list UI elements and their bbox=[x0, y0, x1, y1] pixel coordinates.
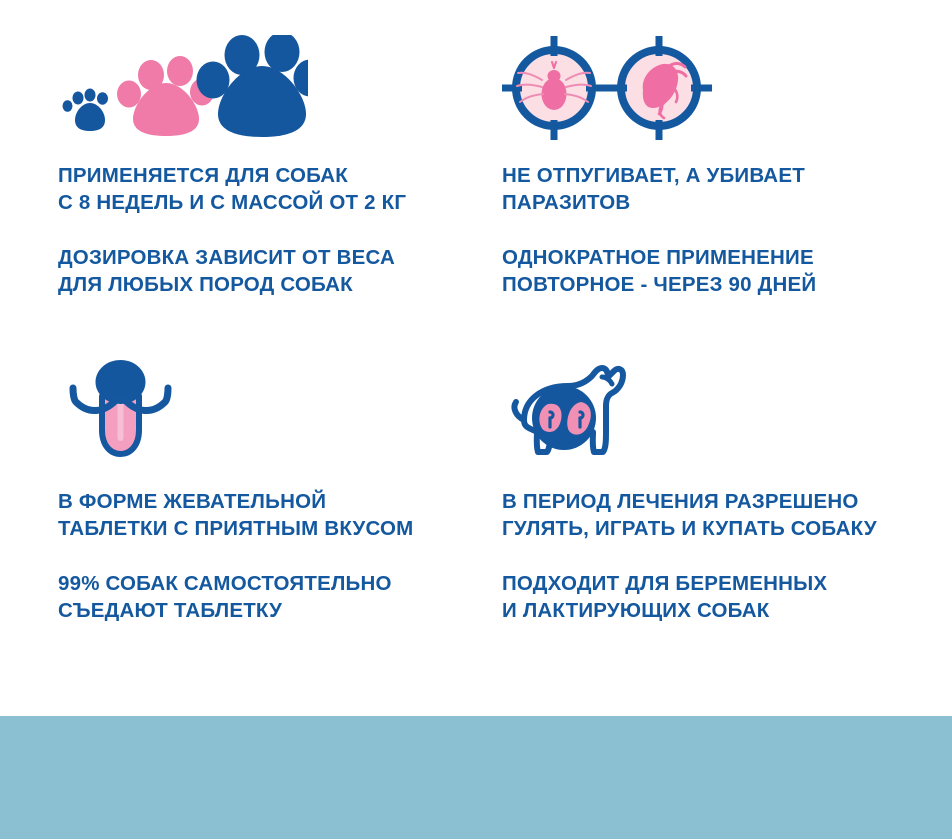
parasite-target-icon bbox=[502, 32, 712, 140]
feature-text-block: В ФОРМЕ ЖЕВАТЕЛЬНОЙ ТАБЛЕТКИ С ПРИЯТНЫМ … bbox=[58, 488, 476, 542]
icon-area bbox=[502, 28, 952, 140]
text-line: ГУЛЯТЬ, ИГРАТЬ И КУПАТЬ СОБАКУ bbox=[502, 515, 952, 542]
feature-grid: ПРИМЕНЯЕТСЯ ДЛЯ СОБАК С 8 НЕДЕЛЬ И С МАС… bbox=[0, 0, 952, 716]
paw-prints-icon bbox=[58, 35, 308, 140]
text-line: СЪЕДАЮТ ТАБЛЕТКУ bbox=[58, 597, 476, 624]
feature-text-block: ОДНОКРАТНОЕ ПРИМЕНЕНИЕ ПОВТОРНОЕ - ЧЕРЕЗ… bbox=[502, 244, 952, 298]
text-column: В ФОРМЕ ЖЕВАТЕЛЬНОЙ ТАБЛЕТКИ С ПРИЯТНЫМ … bbox=[58, 488, 476, 624]
text-line: В ФОРМЕ ЖЕВАТЕЛЬНОЙ bbox=[58, 488, 476, 515]
text-column: ПРИМЕНЯЕТСЯ ДЛЯ СОБАК С 8 НЕДЕЛЬ И С МАС… bbox=[58, 162, 476, 298]
pregnant-dog-icon bbox=[502, 358, 634, 462]
text-line: ОДНОКРАТНОЕ ПРИМЕНЕНИЕ bbox=[502, 244, 952, 271]
text-column: НЕ ОТПУГИВАЕТ, А УБИВАЕТ ПАРАЗИТОВ ОДНОК… bbox=[502, 162, 952, 298]
text-line: ДОЗИРОВКА ЗАВИСИТ ОТ ВЕСА bbox=[58, 244, 476, 271]
feature-text-block: ДОЗИРОВКА ЗАВИСИТ ОТ ВЕСА ДЛЯ ЛЮБЫХ ПОРО… bbox=[58, 244, 476, 298]
feature-pregnant-lactating: В ПЕРИОД ЛЕЧЕНИЯ РАЗРЕШЕНО ГУЛЯТЬ, ИГРАТ… bbox=[476, 330, 952, 630]
text-line: ПОВТОРНОЕ - ЧЕРЕЗ 90 ДНЕЙ bbox=[502, 271, 952, 298]
text-line: ДЛЯ ЛЮБЫХ ПОРОД СОБАК bbox=[58, 271, 476, 298]
feature-kills-parasites: НЕ ОТПУГИВАЕТ, А УБИВАЕТ ПАРАЗИТОВ ОДНОК… bbox=[476, 0, 952, 330]
feature-text-block: 99% СОБАК САМОСТОЯТЕЛЬНО СЪЕДАЮТ ТАБЛЕТК… bbox=[58, 570, 476, 624]
feature-dosage-by-weight: ПРИМЕНЯЕТСЯ ДЛЯ СОБАК С 8 НЕДЕЛЬ И С МАС… bbox=[0, 0, 476, 330]
feature-chewable-tablet: В ФОРМЕ ЖЕВАТЕЛЬНОЙ ТАБЛЕТКИ С ПРИЯТНЫМ … bbox=[0, 330, 476, 630]
text-line: С 8 НЕДЕЛЬ И С МАССОЙ ОТ 2 КГ bbox=[58, 189, 476, 216]
text-line: 99% СОБАК САМОСТОЯТЕЛЬНО bbox=[58, 570, 476, 597]
text-line: ПРИМЕНЯЕТСЯ ДЛЯ СОБАК bbox=[58, 162, 476, 189]
text-line: И ЛАКТИРУЮЩИХ СОБАК bbox=[502, 597, 952, 624]
text-column: В ПЕРИОД ЛЕЧЕНИЯ РАЗРЕШЕНО ГУЛЯТЬ, ИГРАТ… bbox=[502, 488, 952, 624]
infographic-page: ПРИМЕНЯЕТСЯ ДЛЯ СОБАК С 8 НЕДЕЛЬ И С МАС… bbox=[0, 0, 952, 839]
feature-text-block: ПРИМЕНЯЕТСЯ ДЛЯ СОБАК С 8 НЕДЕЛЬ И С МАС… bbox=[58, 162, 476, 216]
icon-area bbox=[58, 28, 476, 140]
bottom-color-band bbox=[0, 716, 952, 839]
text-line: НЕ ОТПУГИВАЕТ, А УБИВАЕТ bbox=[502, 162, 952, 189]
icon-area bbox=[58, 358, 476, 462]
text-line: ПАРАЗИТОВ bbox=[502, 189, 952, 216]
text-line: ПОДХОДИТ ДЛЯ БЕРЕМЕННЫХ bbox=[502, 570, 952, 597]
feature-text-block: ПОДХОДИТ ДЛЯ БЕРЕМЕННЫХ И ЛАКТИРУЮЩИХ СО… bbox=[502, 570, 952, 624]
text-line: ТАБЛЕТКИ С ПРИЯТНЫМ ВКУСОМ bbox=[58, 515, 476, 542]
feature-text-block: В ПЕРИОД ЛЕЧЕНИЯ РАЗРЕШЕНО ГУЛЯТЬ, ИГРАТ… bbox=[502, 488, 952, 542]
icon-area bbox=[502, 358, 952, 462]
text-line: В ПЕРИОД ЛЕЧЕНИЯ РАЗРЕШЕНО bbox=[502, 488, 952, 515]
dog-muzzle-tongue-icon bbox=[58, 358, 183, 462]
feature-text-block: НЕ ОТПУГИВАЕТ, А УБИВАЕТ ПАРАЗИТОВ bbox=[502, 162, 952, 216]
